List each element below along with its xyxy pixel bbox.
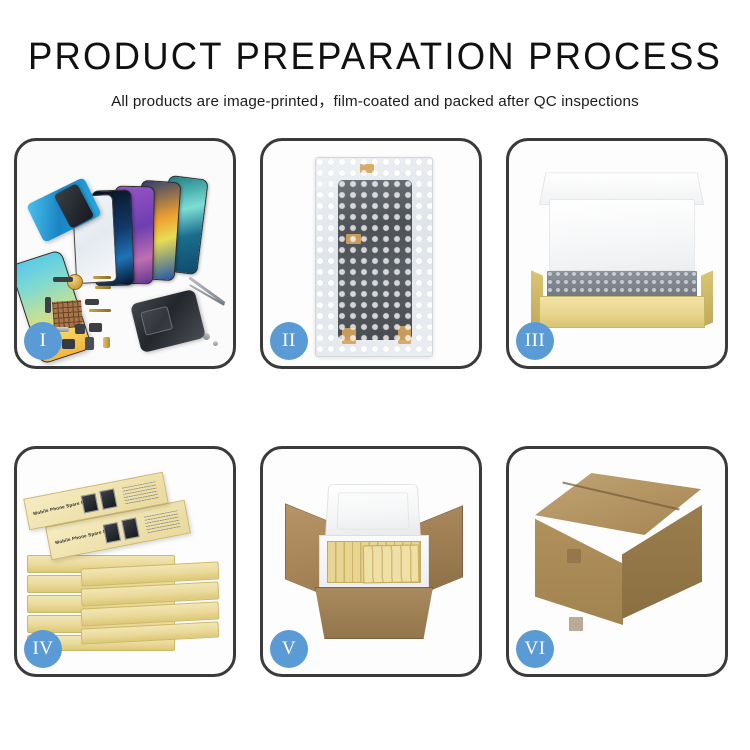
small-part-icon-1 — [45, 297, 51, 313]
phone-chassis-icon — [130, 289, 206, 353]
connector-strip-icon — [53, 277, 73, 282]
flex-cable-icon-2 — [95, 286, 111, 289]
bubble-texture-overlay — [316, 158, 432, 356]
inner-boxes-row-icon-2 — [363, 545, 420, 584]
step-badge-5: V — [270, 630, 308, 668]
step-badge-3: III — [516, 322, 554, 360]
page-subtitle: All products are image-printed，film-coat… — [0, 89, 750, 111]
camera-module-icon — [75, 324, 85, 334]
screw-icon-2 — [213, 341, 218, 346]
foam-sheet-icon — [549, 199, 695, 271]
step-badge-2: II — [270, 322, 308, 360]
step-panel-6[interactable]: VI — [506, 446, 728, 677]
gold-contact-icon — [103, 337, 110, 348]
foam-lid-icon — [325, 484, 421, 539]
box-label-thumb-1a — [81, 493, 99, 514]
flex-cable-icon-1 — [93, 276, 111, 279]
header: PRODUCT PREPARATION PROCESS All products… — [0, 0, 750, 111]
box-front-panel-icon — [539, 296, 705, 328]
step-badge-4: IV — [24, 630, 62, 668]
box-label-thumb-2b — [121, 517, 140, 539]
small-part-icon-3 — [89, 323, 102, 332]
vibrator-icon — [62, 339, 75, 349]
flex-cable-icon-3 — [89, 309, 111, 312]
sim-tray-icon — [85, 337, 94, 350]
process-steps-grid: I II — [14, 138, 736, 677]
bubble-padding-icon — [547, 271, 697, 299]
step-panel-3[interactable]: III — [506, 138, 728, 369]
step-panel-2[interactable]: II — [260, 138, 482, 369]
box-label-lines-2 — [144, 510, 181, 535]
small-part-icon-2 — [85, 299, 99, 305]
page-title: PRODUCT PREPARATION PROCESS — [15, 38, 735, 78]
step-panel-1[interactable]: I — [14, 138, 236, 369]
step-badge-1: I — [24, 322, 62, 360]
infographic-page: PRODUCT PREPARATION PROCESS All products… — [0, 0, 750, 750]
box-label-thumb-1b — [99, 488, 117, 510]
box-label-lines-1 — [122, 481, 159, 505]
carton-front-panel-icon — [315, 587, 433, 639]
carton-tab-icon-2 — [569, 617, 583, 631]
step-badge-6: VI — [516, 630, 554, 668]
step-panel-4[interactable]: Mobile Phone Spare Parts Mobile Phone Sp… — [14, 446, 236, 677]
carton-tab-icon-1 — [567, 549, 581, 563]
box-label-thumb-2a — [103, 522, 121, 544]
bubble-wrap-bag-icon — [315, 157, 433, 357]
step-panel-5[interactable]: V — [260, 446, 482, 677]
